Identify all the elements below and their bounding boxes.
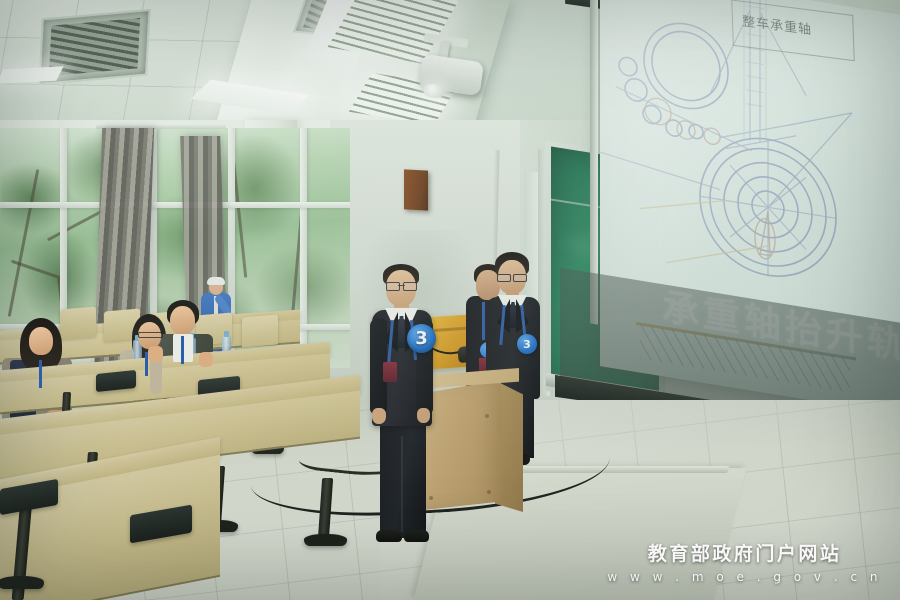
lecture-hall-photo: 整车承重轴 承重轴抬升轨迹: [0, 0, 900, 600]
shoe: [376, 530, 402, 542]
id-card-holder: [383, 362, 397, 382]
window-transom: [0, 202, 350, 208]
hand: [417, 408, 430, 423]
presenter-student: 3: [360, 258, 442, 543]
window-mullion: [300, 128, 307, 368]
cap-icon: [207, 277, 225, 285]
wall-speaker: [404, 169, 428, 210]
participant-number-badge: 3: [407, 324, 436, 353]
desk-foot: [304, 534, 347, 546]
podium-badge-number: 3: [523, 338, 531, 351]
desk-foot: [0, 576, 44, 589]
glasses-icon: [386, 282, 417, 289]
hand: [372, 408, 386, 424]
participant-badge: 3: [517, 334, 537, 354]
glasses-icon: [497, 274, 527, 280]
seat-back: [242, 314, 278, 347]
badge-number: 3: [415, 330, 428, 348]
shoe: [404, 530, 429, 542]
